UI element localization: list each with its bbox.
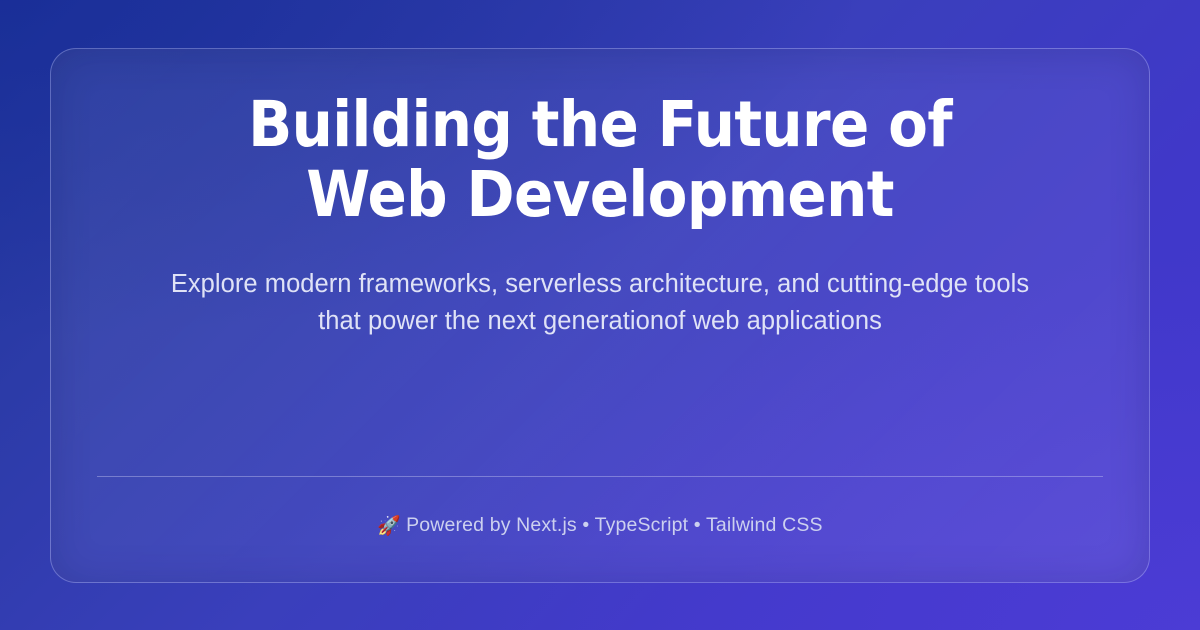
og-image-canvas: Building the Future of Web Development E…: [0, 0, 1200, 630]
footer-credits-text: Powered by Next.js • TypeScript • Tailwi…: [406, 514, 823, 536]
page-subtitle: Explore modern frameworks, serverless ar…: [165, 266, 1035, 340]
footer-credits: 🚀Powered by Next.js • TypeScript • Tailw…: [109, 512, 1091, 539]
hero-card: Building the Future of Web Development E…: [50, 48, 1150, 583]
page-title: Building the Future of Web Development: [204, 90, 995, 230]
rocket-emoji: 🚀: [377, 513, 401, 539]
footer-divider: [97, 476, 1103, 477]
